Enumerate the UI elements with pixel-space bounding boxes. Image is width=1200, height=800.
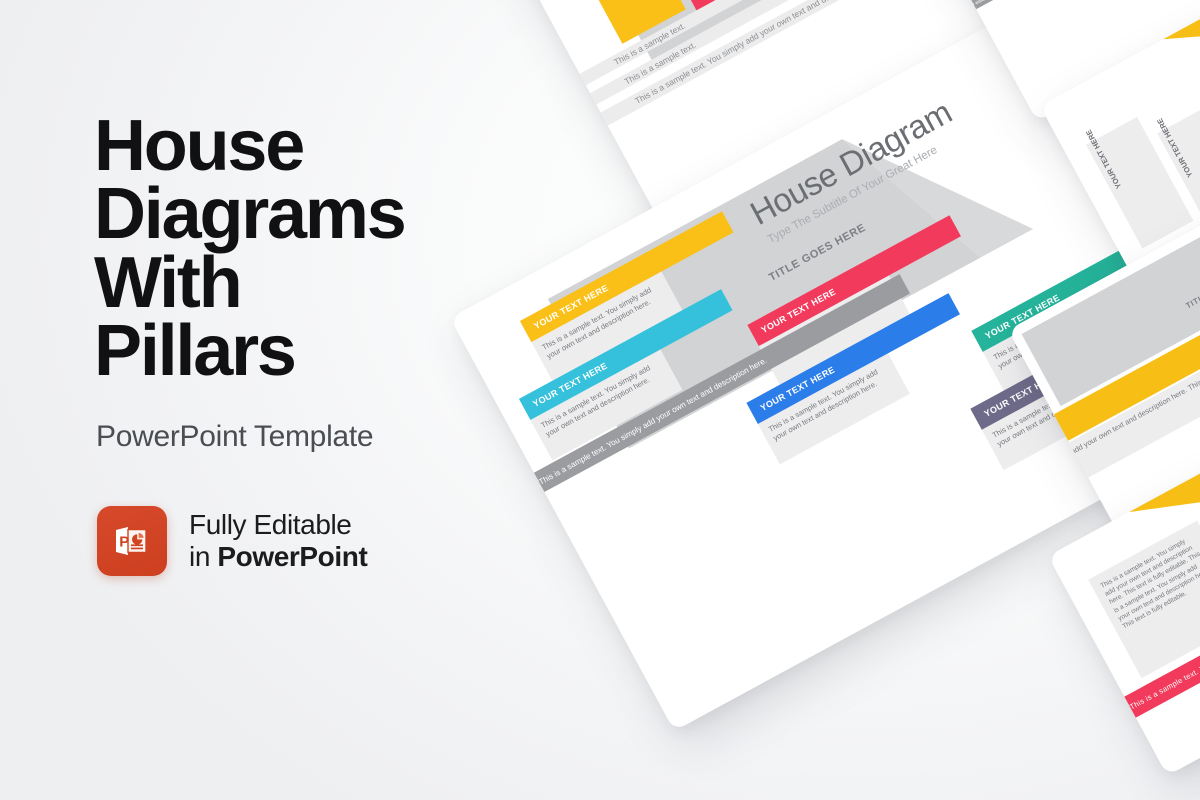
badge-label: Fully Editable in PowerPoint	[189, 509, 367, 573]
page-title: House Diagrams With Pillars	[94, 112, 524, 386]
badge-line-2-prefix: in	[189, 541, 217, 572]
fully-editable-badge: P Fully Editable in PowerPoint	[97, 506, 524, 576]
hero-block: House Diagrams With Pillars PowerPoint T…	[94, 112, 524, 576]
badge-line-1: Fully Editable	[189, 509, 367, 541]
badge-line-2-strong: PowerPoint	[217, 541, 367, 572]
svg-text:P: P	[119, 533, 129, 550]
powerpoint-icon: P	[97, 506, 167, 576]
title-line-1: House	[94, 112, 524, 180]
title-line-4: Pillars	[94, 317, 524, 385]
title-line-3: With	[94, 249, 524, 317]
hero-subtitle: PowerPoint Template	[96, 420, 524, 454]
poster-canvas: House Diagrams With Pillars PowerPoint T…	[0, 0, 1200, 800]
badge-line-2: in PowerPoint	[189, 541, 367, 573]
title-line-2: Diagrams	[94, 180, 524, 248]
